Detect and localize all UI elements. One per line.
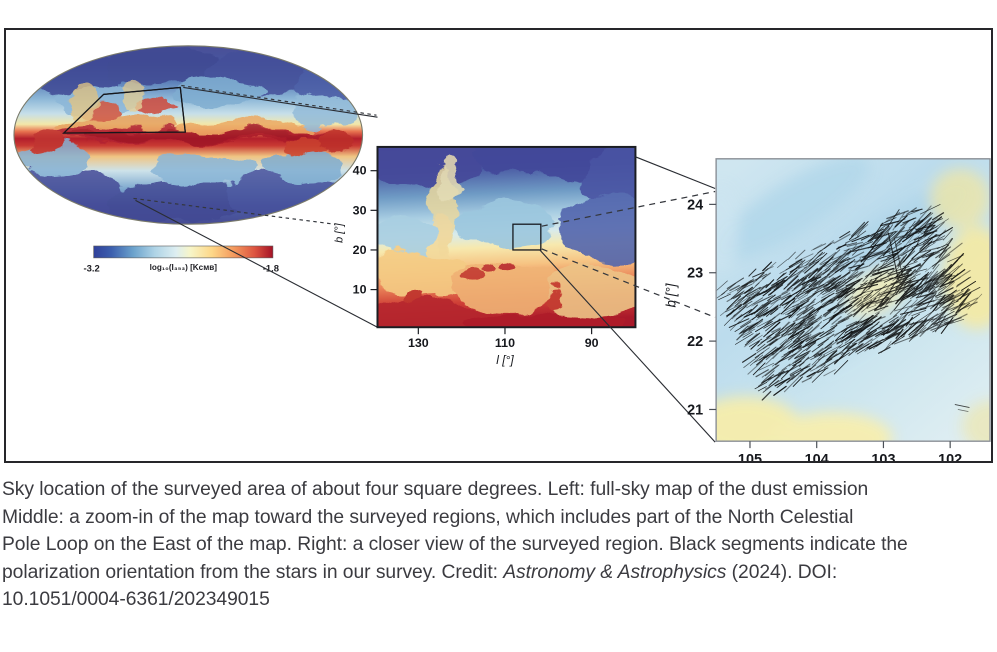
caption-line-4-pre: polarization orientation from the stars … <box>2 562 503 583</box>
figure-caption: Sky location of the surveyed area of abo… <box>2 476 994 614</box>
right-xtick-104: 104 <box>805 452 829 461</box>
right-ytick-21: 21 <box>687 402 703 418</box>
right-xtick-102: 102 <box>938 452 962 461</box>
colorbar-min-label: -3.2 <box>84 263 100 274</box>
right-ytick-22: 22 <box>687 334 703 350</box>
caption-line-3: Pole Loop on the East of the map. Right:… <box>2 531 994 559</box>
caption-journal-name: Astronomy & Astrophysics <box>503 562 726 583</box>
figure-container: -3.2 -1.8 log₁₀(I₃₅₃) [Kᴄᴍʙ] <box>4 28 993 463</box>
middle-xtick-130: 130 <box>408 336 429 350</box>
colorbar-gradient <box>94 246 273 258</box>
middle-ytick-20: 20 <box>353 243 367 257</box>
right-panel-ylabel: b [°] <box>663 283 678 307</box>
panel-full-sky-map <box>11 46 375 225</box>
figure-canvas: -3.2 -1.8 log₁₀(I₃₅₃) [Kᴄᴍʙ] <box>6 30 991 461</box>
middle-panel-xlabel: l [°] <box>496 353 514 367</box>
middle-panel-xticks <box>418 327 591 334</box>
right-ytick-24: 24 <box>687 197 703 213</box>
right-xtick-103: 103 <box>871 452 895 461</box>
caption-line-4-post: (2024). DOI: <box>726 562 837 583</box>
middle-ytick-10: 10 <box>353 283 367 297</box>
middle-xtick-90: 90 <box>585 336 599 350</box>
middle-ytick-30: 30 <box>353 203 367 217</box>
right-panel-xticks <box>750 441 950 448</box>
caption-line-2: Middle: a zoom-in of the map toward the … <box>2 504 994 532</box>
middle-xtick-110: 110 <box>495 336 515 350</box>
middle-panel-yticks <box>371 171 378 290</box>
right-ytick-23: 23 <box>687 266 703 282</box>
colorbar-axis-label: log₁₀(I₃₅₃) [Kᴄᴍʙ] <box>150 263 218 272</box>
caption-line-1: Sky location of the surveyed area of abo… <box>2 476 994 504</box>
middle-ytick-40: 40 <box>353 164 367 178</box>
caption-line-5-doi: 10.1051/0004-6361/202349015 <box>2 586 994 614</box>
right-panel-yticks <box>709 204 716 409</box>
caption-line-4: polarization orientation from the stars … <box>2 559 994 587</box>
middle-panel-ylabel: b [°] <box>334 222 346 242</box>
panel-zoom-in-map: 40 30 20 10 b [°] 130 110 90 l [°] <box>334 137 664 367</box>
right-xtick-105: 105 <box>738 452 762 461</box>
